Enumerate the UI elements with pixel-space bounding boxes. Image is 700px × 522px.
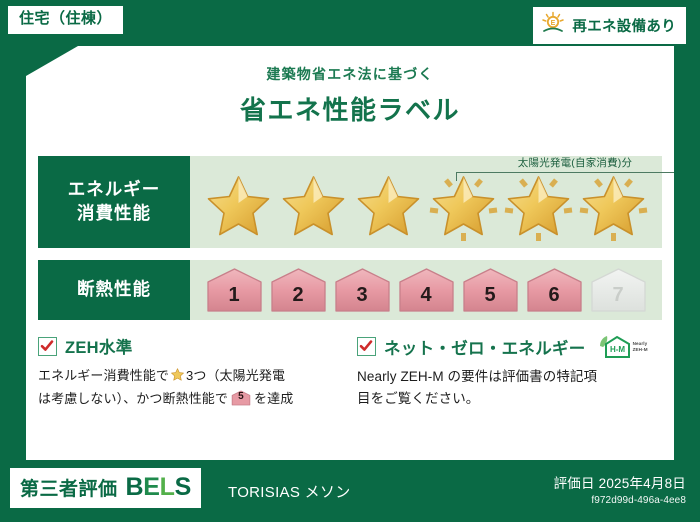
energy-star-track: 太陽光発電(自家消費)分 — [190, 156, 662, 248]
sun-icon: E — [540, 11, 566, 40]
svg-text:E: E — [551, 20, 556, 27]
net-zero-energy-block: ネット・ゼロ・エネルギー H-M Nearly ZEH-M — [357, 334, 662, 410]
insulation-level-5: 5 — [460, 266, 521, 314]
criteria-section: ZEH水準 エネルギー消費性能で3つ（太陽光発電 は考慮しない）、かつ断熱性能で… — [38, 334, 662, 410]
insulation-level-track: 1 2 3 — [190, 260, 662, 320]
nearly-zehm-logo: H-M Nearly ZEH-M — [597, 334, 648, 359]
insulation-level-scale: 1 2 3 — [190, 260, 662, 320]
star-rating — [190, 156, 662, 248]
insulation-level-7: 7 — [588, 266, 649, 314]
check-icon-zeh — [38, 337, 57, 356]
insulation-level-4-number: 4 — [420, 284, 431, 314]
insulation-level-3: 3 — [332, 266, 393, 314]
star-1 — [202, 169, 275, 243]
mini-house-badge: 5 — [230, 390, 252, 406]
renewable-badge-label: 再エネ設備あり — [572, 15, 676, 36]
insulation-level-1: 1 — [204, 266, 265, 314]
third-party-label: 第三者評価 — [20, 474, 118, 501]
bels-letter-b: B — [126, 473, 144, 501]
zeh-standard-title: ZEH水準 — [65, 334, 133, 358]
zeh-body-star-count: 3つ（太陽光発電 — [186, 368, 285, 383]
title-block: 建築物省エネ法に基づく 省エネ性能ラベル — [26, 46, 674, 127]
zehm-caption-line2: ZEH-M — [633, 347, 648, 352]
bels-logo: BELS — [126, 473, 192, 502]
insulation-performance-row: 断熱性能 — [38, 260, 662, 320]
zeh-standard-block: ZEH水準 エネルギー消費性能で3つ（太陽光発電 は考慮しない）、かつ断熱性能で… — [38, 334, 343, 410]
nze-body-line2: 目をご覧ください。 — [357, 391, 479, 406]
insulation-level-5-number: 5 — [484, 284, 495, 314]
nze-body-line1: Nearly ZEH-M の要件は評価書の特記項 — [357, 369, 597, 384]
insulation-label: 断熱性能 — [77, 278, 151, 302]
star-3 — [352, 169, 425, 243]
energy-performance-label: 建築物省エネ法に基づく 省エネ性能ラベル エネルギー 消費性能 太陽光発電(自家… — [0, 0, 700, 522]
insulation-performance-label-box: 断熱性能 — [38, 260, 190, 320]
page-title: 省エネ性能ラベル — [26, 90, 674, 127]
zeh-body-part2: は考慮しない）、かつ断熱性能で — [38, 391, 228, 406]
bels-letter-e: E — [143, 473, 159, 501]
star-6-solar — [577, 169, 650, 243]
net-zero-energy-body: Nearly ZEH-M の要件は評価書の特記項 目をご覧ください。 — [357, 366, 662, 410]
bels-certification-chip: 第三者評価 BELS — [10, 468, 201, 508]
mini-star-icon — [170, 367, 185, 388]
evaluation-id: f972d99d-496a-4ee8 — [554, 495, 686, 506]
net-zero-energy-title: ネット・ゼロ・エネルギー — [384, 335, 586, 359]
insulation-level-3-number: 3 — [356, 284, 367, 314]
brand-name: TORISIAS メソン — [228, 481, 351, 502]
nearly-zehm-caption: Nearly ZEH-M — [633, 341, 648, 352]
building-type-chip: 住宅（住棟） — [8, 6, 123, 34]
star-2 — [277, 169, 350, 243]
bels-letter-l: L — [160, 473, 175, 501]
zeh-body-part3: を達成 — [254, 391, 293, 406]
label-subtitle: 建築物省エネ法に基づく — [26, 64, 674, 84]
mini-house-number: 5 — [230, 390, 252, 406]
bels-letter-s: S — [175, 473, 191, 501]
insulation-level-6-number: 6 — [548, 284, 559, 314]
zehm-caption-line1: Nearly — [633, 341, 648, 346]
insulation-level-1-number: 1 — [228, 284, 239, 314]
energy-performance-label-box: エネルギー 消費性能 — [38, 156, 190, 248]
zeh-standard-body: エネルギー消費性能で3つ（太陽光発電 は考慮しない）、かつ断熱性能で5を達成 — [38, 365, 343, 409]
renewable-equipment-badge: E 再エネ設備あり — [533, 7, 686, 44]
zeh-standard-heading: ZEH水準 — [38, 334, 343, 358]
star-5-solar — [502, 169, 575, 243]
check-icon-nze — [357, 337, 376, 356]
insulation-level-6: 6 — [524, 266, 585, 314]
star-4-solar — [427, 169, 500, 243]
evaluation-date: 評価日 2025年4月8日 — [554, 472, 686, 492]
insulation-level-4: 4 — [396, 266, 457, 314]
net-zero-energy-heading: ネット・ゼロ・エネルギー H-M Nearly ZEH-M — [357, 334, 662, 359]
svg-text:H-M: H-M — [610, 345, 625, 354]
label-card: 建築物省エネ法に基づく 省エネ性能ラベル エネルギー 消費性能 太陽光発電(自家… — [26, 46, 674, 460]
insulation-level-7-number: 7 — [612, 284, 623, 314]
insulation-level-2: 2 — [268, 266, 329, 314]
energy-performance-row: エネルギー 消費性能 太陽光発電(自家消費)分 — [38, 156, 662, 248]
evaluation-meta: 評価日 2025年4月8日 f972d99d-496a-4ee8 — [554, 472, 686, 506]
footer: 第三者評価 BELS TORISIAS メソン 評価日 2025年4月8日 f9… — [0, 460, 700, 522]
zeh-body-part1: エネルギー消費性能で — [38, 368, 169, 383]
insulation-level-2-number: 2 — [292, 284, 303, 314]
energy-label-line1: エネルギー — [68, 178, 161, 202]
energy-label-line2: 消費性能 — [77, 202, 151, 226]
